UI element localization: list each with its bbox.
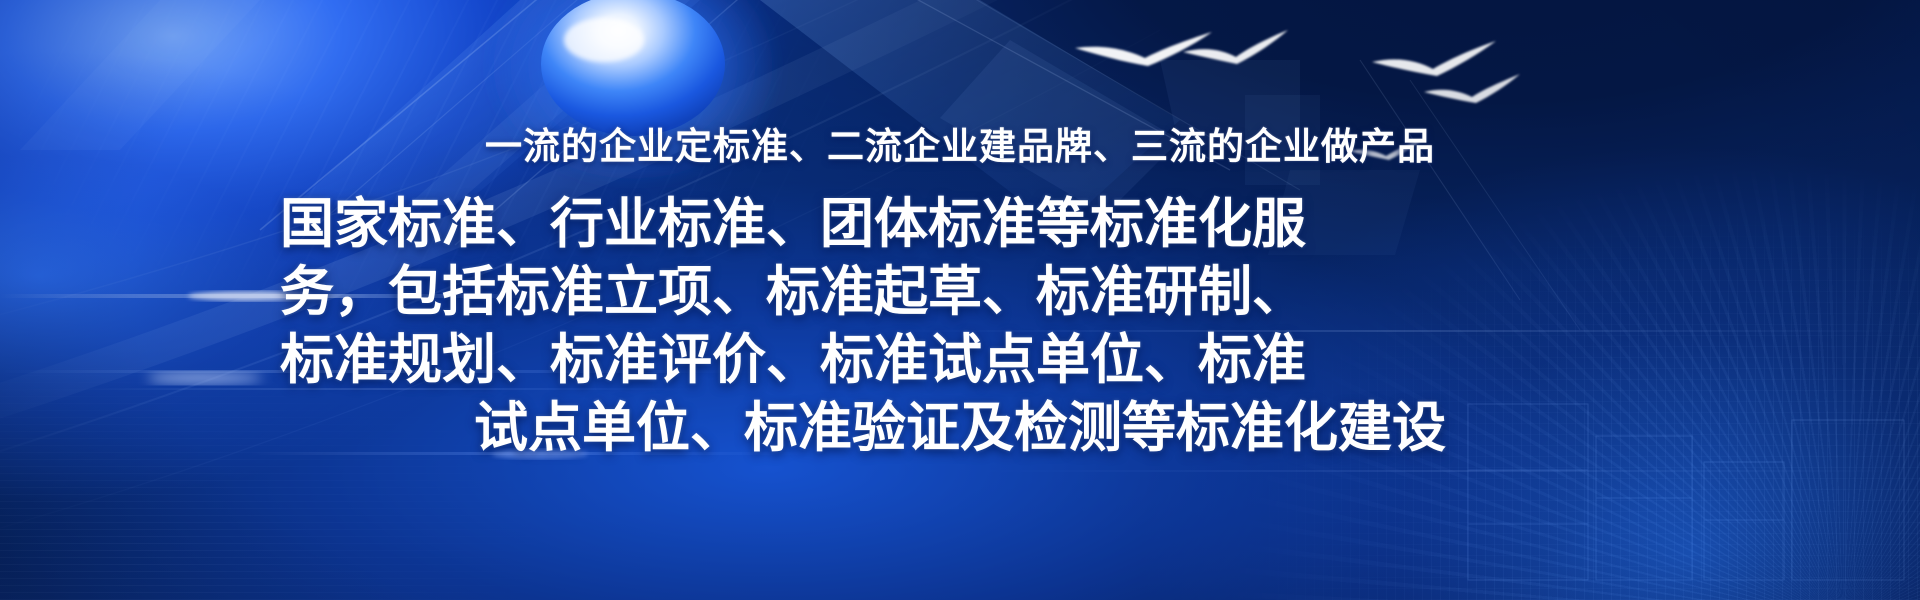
- seagull-4: [1424, 74, 1520, 103]
- banner-canvas: 一流的企业定标准、二流企业建品牌、三流的企业做产品 国家标准、行业标准、团体标准…: [0, 0, 1920, 600]
- banner-headline: 一流的企业定标准、二流企业建品牌、三流的企业做产品: [0, 116, 1920, 170]
- paragraph-line-4: 试点单位、标准验证及检测等标准化建设: [280, 394, 1640, 462]
- paragraph-line-2: 务，包括标准立项、标准起草、标准研制、: [280, 258, 1640, 326]
- seagull-1: [1075, 32, 1212, 66]
- banner-paragraph: 国家标准、行业标准、团体标准等标准化服 务，包括标准立项、标准起草、标准研制、 …: [280, 190, 1640, 462]
- seagull-2: [1183, 30, 1288, 64]
- seagull-3: [1372, 41, 1496, 76]
- paragraph-line-3: 标准规划、标准评价、标准试点单位、标准: [280, 326, 1640, 394]
- paragraph-line-1: 国家标准、行业标准、团体标准等标准化服: [280, 190, 1640, 258]
